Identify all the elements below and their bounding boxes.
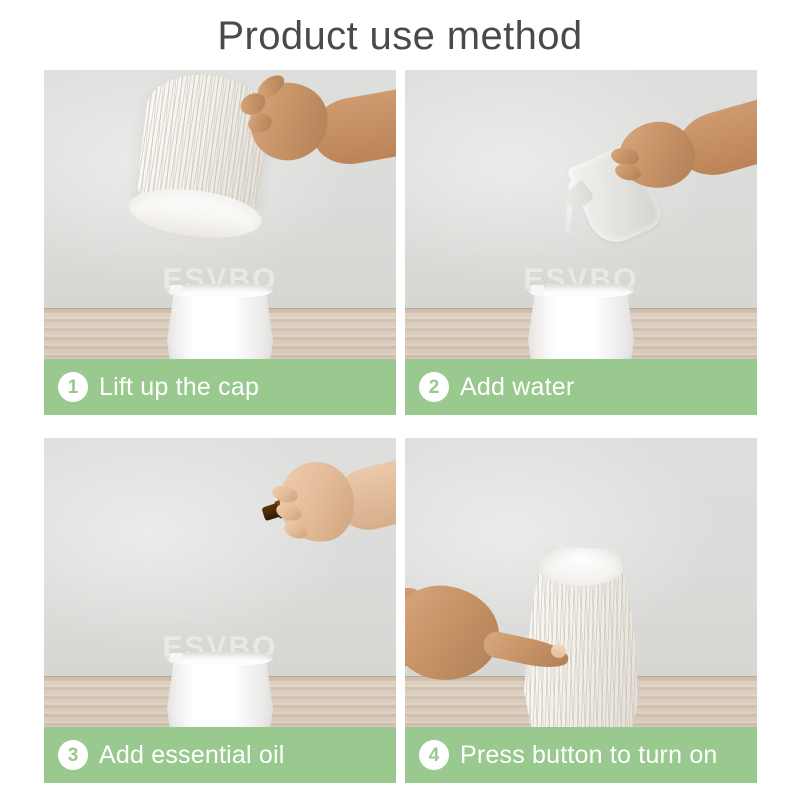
diffuser-base-notch [170,653,183,663]
step-panel-2: ESVBO [405,70,757,415]
step-number-badge: 3 [58,740,88,770]
step-1-caption-bar: 1 Lift up the cap [44,359,396,415]
step-number-badge: 1 [58,372,88,402]
step-number-badge: 2 [419,372,449,402]
diffuser-base-notch [170,285,183,295]
diffuser-base-notch [531,285,544,295]
step-caption-label: Add essential oil [99,741,284,770]
steps-grid: ESVBO [44,70,757,783]
step-caption-label: Lift up the cap [99,373,259,402]
step-caption-label: Add water [460,373,574,402]
page-title: Product use method [0,10,800,62]
step-caption-label: Press button to turn on [460,741,718,770]
diffuser-base-body [528,288,634,370]
diffuser-base-body [167,656,273,738]
diffuser-base-body [167,288,273,370]
step-number-badge: 4 [419,740,449,770]
step-panel-1: ESVBO [44,70,396,415]
step-panel-3: ESVBO [44,438,396,783]
step-panel-4: ESVBO 4 Press button to turn on [405,438,757,783]
step-3-caption-bar: 3 Add essential oil [44,727,396,783]
step-4-caption-bar: 4 Press button to turn on [405,727,757,783]
step-2-caption-bar: 2 Add water [405,359,757,415]
